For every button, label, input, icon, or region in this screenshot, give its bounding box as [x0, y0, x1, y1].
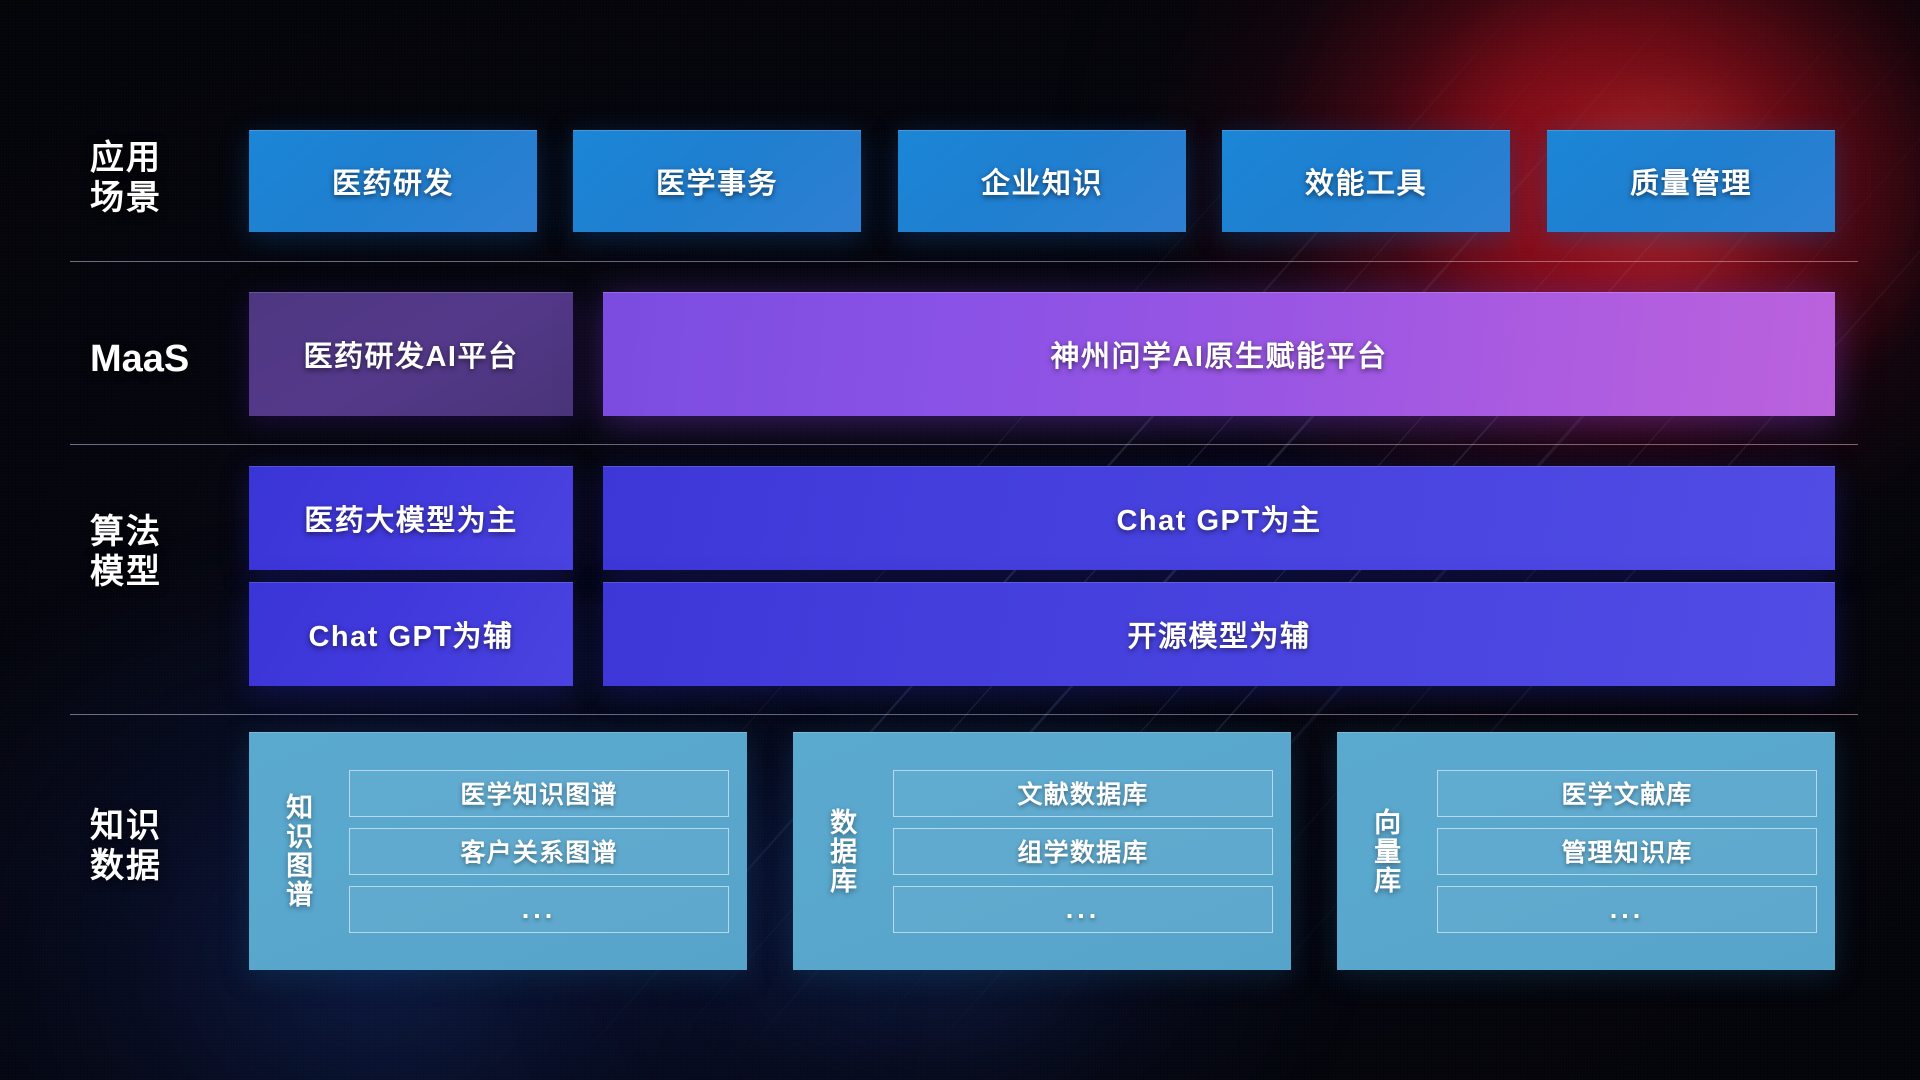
row-label-line: 模型	[90, 552, 250, 592]
row-label-line: MaaS	[90, 337, 250, 382]
knowledge-item-list: 医学知识图谱 客户关系图谱 ...	[345, 732, 747, 970]
row-label-line: 场景	[90, 178, 250, 218]
app-box-label: 效能工具	[1305, 160, 1427, 202]
algo-box-chatgpt-primary[interactable]: Chat GPT为主	[603, 466, 1835, 570]
row-label-line: 应用	[90, 138, 250, 178]
knowledge-panel-title: 向量库	[1337, 732, 1433, 970]
row-label-algorithm-model: 算法 模型	[90, 512, 250, 592]
row-label-line: 数据	[90, 846, 250, 886]
knowledge-item-list: 文献数据库 组学数据库 ...	[889, 732, 1291, 970]
algo-box-label: Chat GPT为辅	[308, 613, 513, 655]
knowledge-item-list: 医学文献库 管理知识库 ...	[1433, 732, 1835, 970]
divider-1	[70, 261, 1858, 262]
algo-box-label: 开源模型为辅	[1127, 613, 1310, 655]
knowledge-item[interactable]: 文献数据库	[893, 770, 1273, 817]
knowledge-item[interactable]: 医学知识图谱	[349, 770, 729, 817]
knowledge-panel-shujuku[interactable]: 数据库 文献数据库 组学数据库 ...	[793, 732, 1291, 970]
row-label-line: 知识	[90, 806, 250, 846]
maas-box-shenzhouwenxue-platform[interactable]: 神州问学AI原生赋能平台	[603, 292, 1835, 416]
app-box-zhiliangguanli[interactable]: 质量管理	[1547, 130, 1835, 232]
app-box-label: 医药研发	[332, 160, 454, 202]
row-label-application-scenarios: 应用 场景	[90, 138, 250, 218]
app-box-yiyaoyanfa[interactable]: 医药研发	[249, 130, 537, 232]
knowledge-item[interactable]: 组学数据库	[893, 828, 1273, 875]
app-box-label: 企业知识	[981, 160, 1103, 202]
knowledge-panel-zhishitupu[interactable]: 知识图谱 医学知识图谱 客户关系图谱 ...	[249, 732, 747, 970]
knowledge-panel-title: 数据库	[793, 732, 889, 970]
knowledge-panel-xiangliangku[interactable]: 向量库 医学文献库 管理知识库 ...	[1337, 732, 1835, 970]
knowledge-item-more[interactable]: ...	[1437, 886, 1817, 933]
row-label-maas: MaaS	[90, 337, 250, 382]
algo-box-opensource-secondary[interactable]: 开源模型为辅	[603, 582, 1835, 686]
algo-box-label: Chat GPT为主	[1116, 497, 1321, 539]
maas-box-yiyaoyanfa-ai-platform[interactable]: 医药研发AI平台	[249, 292, 573, 416]
algo-box-yiyao-model-primary[interactable]: 医药大模型为主	[249, 466, 573, 570]
knowledge-item-more[interactable]: ...	[349, 886, 729, 933]
diagram-frame: 应用 场景 医药研发 医学事务 企业知识 效能工具 质量管理 MaaS 医药研发…	[0, 0, 1920, 1080]
knowledge-panel-title: 知识图谱	[249, 732, 345, 970]
app-box-label: 医学事务	[656, 160, 778, 202]
divider-2	[70, 444, 1858, 445]
maas-box-label: 医药研发AI平台	[303, 333, 518, 375]
knowledge-item-more[interactable]: ...	[893, 886, 1273, 933]
knowledge-item[interactable]: 管理知识库	[1437, 828, 1817, 875]
knowledge-item[interactable]: 医学文献库	[1437, 770, 1817, 817]
app-box-xiaonenggongju[interactable]: 效能工具	[1222, 130, 1510, 232]
algo-box-label: 医药大模型为主	[304, 497, 518, 539]
app-box-qiyezhishi[interactable]: 企业知识	[898, 130, 1186, 232]
row-label-line: 算法	[90, 512, 250, 552]
algo-box-chatgpt-secondary[interactable]: Chat GPT为辅	[249, 582, 573, 686]
knowledge-item[interactable]: 客户关系图谱	[349, 828, 729, 875]
app-box-label: 质量管理	[1630, 160, 1752, 202]
row-label-knowledge-data: 知识 数据	[90, 806, 250, 886]
divider-3	[70, 714, 1858, 715]
app-box-yixueshiwu[interactable]: 医学事务	[573, 130, 861, 232]
maas-box-label: 神州问学AI原生赋能平台	[1050, 333, 1387, 375]
